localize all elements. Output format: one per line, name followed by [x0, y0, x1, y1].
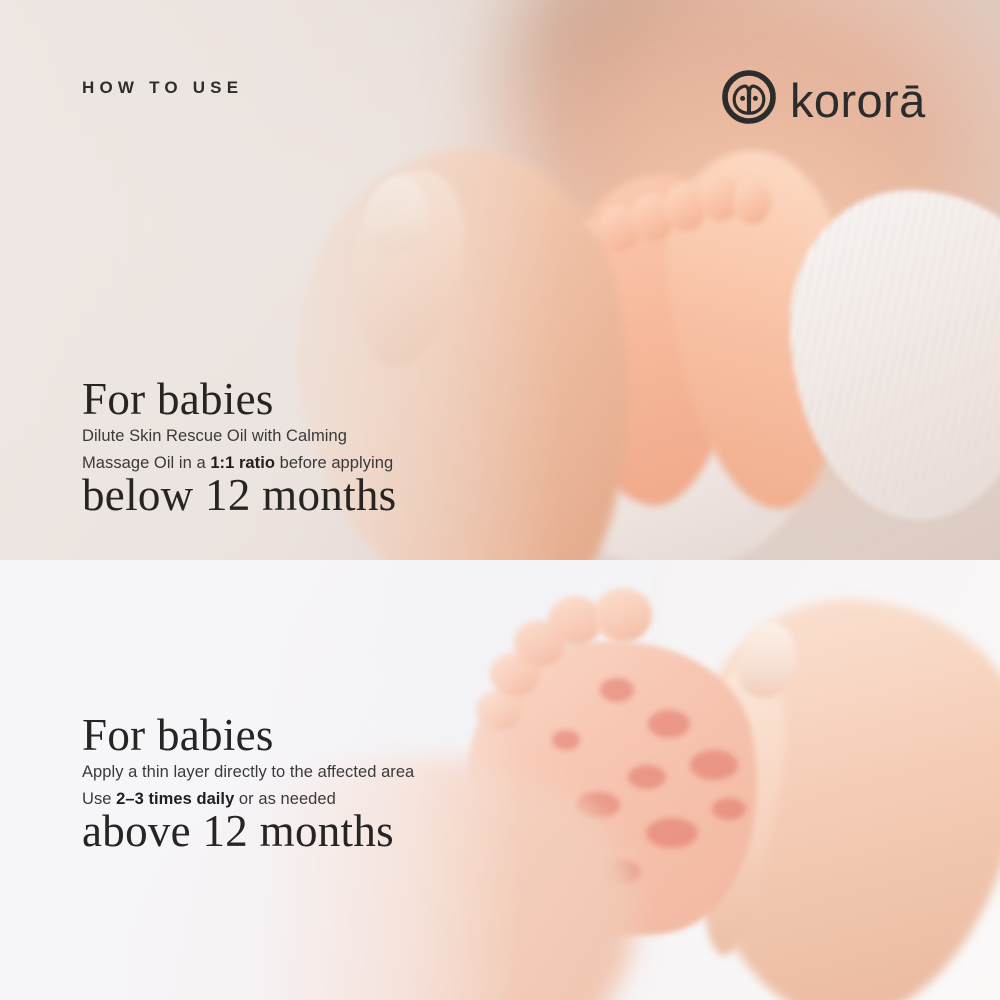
photo-rash-spot: [712, 798, 746, 820]
body-line-2-emphasis: 2–3 times daily: [116, 790, 234, 808]
headline-line-1: For babies: [82, 711, 394, 759]
brand-wordmark: kororā: [790, 77, 926, 124]
body-line-2: Use 2–3 times daily or as needed: [82, 786, 414, 813]
owl-face-icon: [722, 70, 776, 129]
photo-rash-spot: [628, 765, 666, 789]
photo-baby-toe: [594, 588, 652, 642]
body-line-2-emphasis: 1:1 ratio: [210, 454, 275, 472]
body-line-2-prefix: Use: [82, 790, 116, 808]
body-line-1: Apply a thin layer directly to the affec…: [82, 759, 414, 786]
photo-rash-spot: [646, 818, 698, 848]
body-line-1: Dilute Skin Rescue Oil with Calming: [82, 423, 393, 450]
photo-baby-toe: [733, 180, 771, 224]
photo-rash-spot: [552, 730, 580, 750]
photo-baby-toe: [664, 183, 706, 231]
headline-line-1: For babies: [82, 375, 397, 423]
body-line-2-suffix: before applying: [275, 454, 393, 472]
headline-line-2: above 12 months: [82, 807, 394, 855]
photo-rash-spot: [600, 678, 634, 702]
eyebrow-label: HOW TO USE: [82, 78, 243, 98]
brand-logo[interactable]: kororā: [722, 70, 926, 129]
photo-rash-spot: [648, 710, 690, 738]
photo-rash-spot: [690, 750, 738, 780]
body-above-12-months: Apply a thin layer directly to the affec…: [82, 759, 414, 812]
body-line-2-suffix: or as needed: [234, 790, 336, 808]
how-to-use-graphic: HOW TO USE kororā For babies below 12 mo…: [0, 0, 1000, 1000]
headline-line-2: below 12 months: [82, 471, 397, 519]
body-below-12-months: Dilute Skin Rescue Oil with Calming Mass…: [82, 423, 393, 476]
body-line-2-prefix: Massage Oil in a: [82, 454, 210, 472]
body-line-2: Massage Oil in a 1:1 ratio before applyi…: [82, 450, 393, 477]
photo-baby-toe: [548, 596, 602, 646]
